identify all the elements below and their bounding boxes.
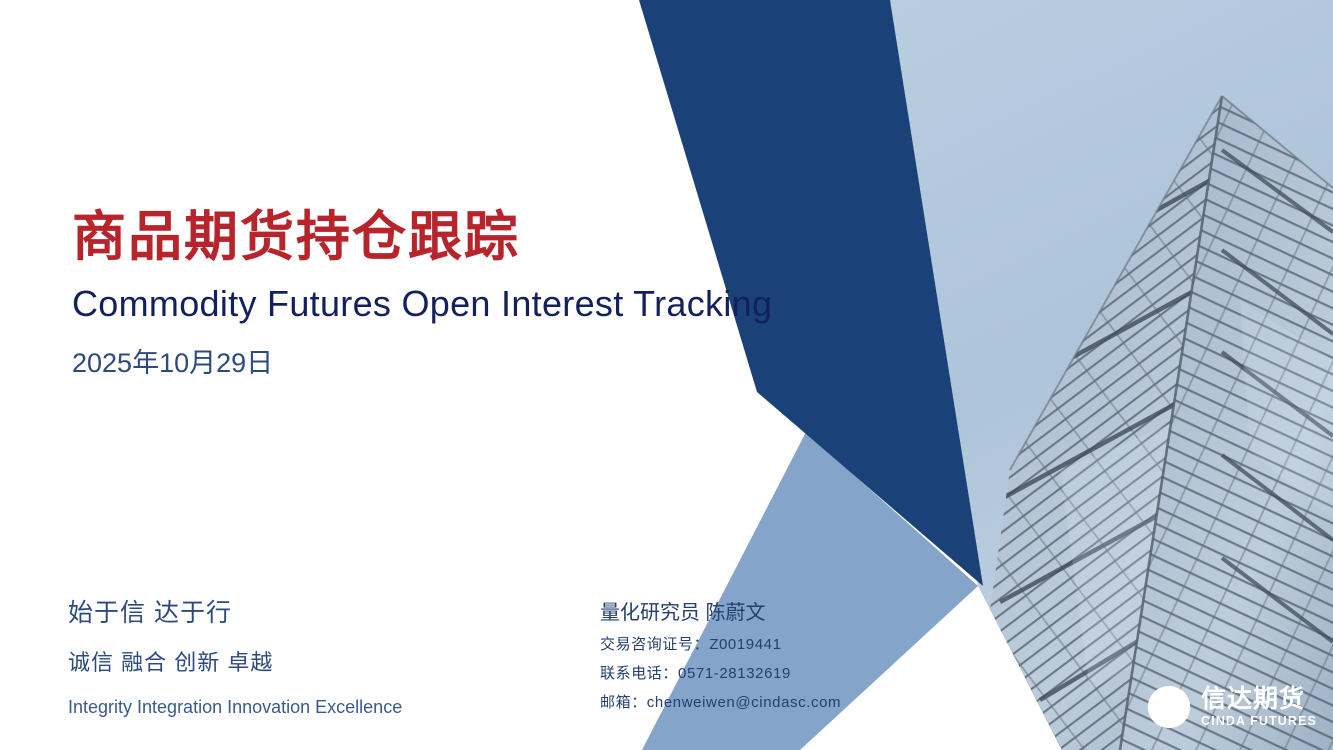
logo-name-en: CINDA FUTURES [1201, 715, 1317, 728]
slogan-values-cn: 诚信 融合 创新 卓越 [68, 649, 538, 677]
analyst-license: 交易咨询证号：Z0019441 [600, 636, 900, 654]
cinda-swoosh-icon [1146, 684, 1192, 730]
logo-wordmark: 信达期货 CINDA FUTURES [1201, 687, 1317, 728]
content-layer: 商品期货持仓跟踪 Commodity Futures Open Interest… [0, 0, 1333, 750]
slogan-values-en: Integrity Integration Innovation Excelle… [68, 697, 538, 719]
company-logo: 信达期货 CINDA FUTURES [1146, 681, 1326, 733]
analyst-name: 量化研究员 陈蔚文 [600, 601, 900, 625]
slogan-primary: 始于信 达于行 [68, 598, 538, 629]
analyst-phone: 联系电话：0571-28132619 [600, 665, 900, 683]
logo-name-cn: 信达期货 [1201, 687, 1317, 712]
page-subtitle: Commodity Futures Open Interest Tracking [72, 283, 862, 324]
slogan-block: 始于信 达于行 诚信 融合 创新 卓越 Integrity Integratio… [68, 598, 538, 718]
page-title: 商品期货持仓跟踪 [72, 208, 862, 267]
title-block: 商品期货持仓跟踪 Commodity Futures Open Interest… [72, 208, 862, 379]
analyst-email: 邮箱：chenweiwen@cindasc.com [600, 694, 900, 712]
analyst-contact-block: 量化研究员 陈蔚文 交易咨询证号：Z0019441 联系电话：0571-2813… [600, 601, 900, 712]
title-slide: 商品期货持仓跟踪 Commodity Futures Open Interest… [0, 0, 1333, 750]
publish-date: 2025年10月29日 [72, 347, 862, 379]
